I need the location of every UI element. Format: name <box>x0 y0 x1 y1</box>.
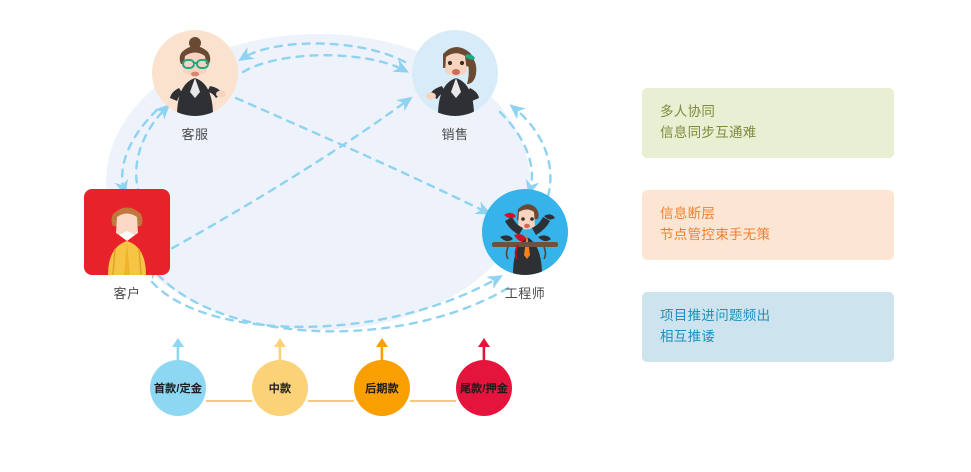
timeline-connector <box>410 400 456 402</box>
sales-illustration <box>412 30 498 116</box>
timeline-connector <box>308 400 354 402</box>
service-illustration <box>152 30 238 116</box>
node-label-service: 客服 <box>152 124 238 143</box>
avatar-sales <box>412 30 498 116</box>
payment-step-label: 中款 <box>269 380 291 396</box>
card-line-secondary: 信息同步互通难 <box>660 122 894 143</box>
payment-step-4[interactable]: 尾款/押金 <box>456 360 512 416</box>
payment-step-label: 后期款 <box>365 380 399 396</box>
avatar-engineer <box>482 189 568 275</box>
node-label-engineer: 工程师 <box>482 283 568 302</box>
diagram-canvas: 客服 销售 <box>0 0 971 472</box>
card-line-primary: 项目推进问题频出 <box>660 305 894 326</box>
payment-step-2[interactable]: 中款 <box>252 360 308 416</box>
timeline-connector <box>206 400 252 402</box>
avatar-service <box>152 30 238 116</box>
pain-point-card-information[interactable]: 信息断层 节点管控束手无策 <box>642 190 894 260</box>
payment-timeline: 首款/定金 中款 后期款 尾款/押金 <box>150 338 530 438</box>
node-sales[interactable]: 销售 <box>412 30 498 143</box>
node-customer[interactable]: 客户 <box>84 189 170 302</box>
card-line-primary: 信息断层 <box>660 203 894 224</box>
node-label-sales: 销售 <box>412 124 498 143</box>
card-line-secondary: 相互推诿 <box>660 326 894 347</box>
pain-point-card-collaboration[interactable]: 多人协同 信息同步互通难 <box>642 88 894 158</box>
pain-point-card-list: 多人协同 信息同步互通难 信息断层 节点管控束手无策 项目推进问题频出 相互推诿 <box>642 88 894 394</box>
payment-step-1[interactable]: 首款/定金 <box>150 360 206 416</box>
node-service[interactable]: 客服 <box>152 30 238 143</box>
avatar-customer <box>84 189 170 275</box>
payment-step-label: 首款/定金 <box>154 380 202 396</box>
node-label-customer: 客户 <box>84 283 170 302</box>
engineer-illustration <box>482 189 568 275</box>
card-line-secondary: 节点管控束手无策 <box>660 224 894 245</box>
node-engineer[interactable]: 工程师 <box>482 189 568 302</box>
card-line-primary: 多人协同 <box>660 101 894 122</box>
payment-step-3[interactable]: 后期款 <box>354 360 410 416</box>
pain-point-card-project[interactable]: 项目推进问题频出 相互推诿 <box>642 292 894 362</box>
payment-step-label: 尾款/押金 <box>460 380 508 396</box>
customer-illustration <box>84 189 170 275</box>
